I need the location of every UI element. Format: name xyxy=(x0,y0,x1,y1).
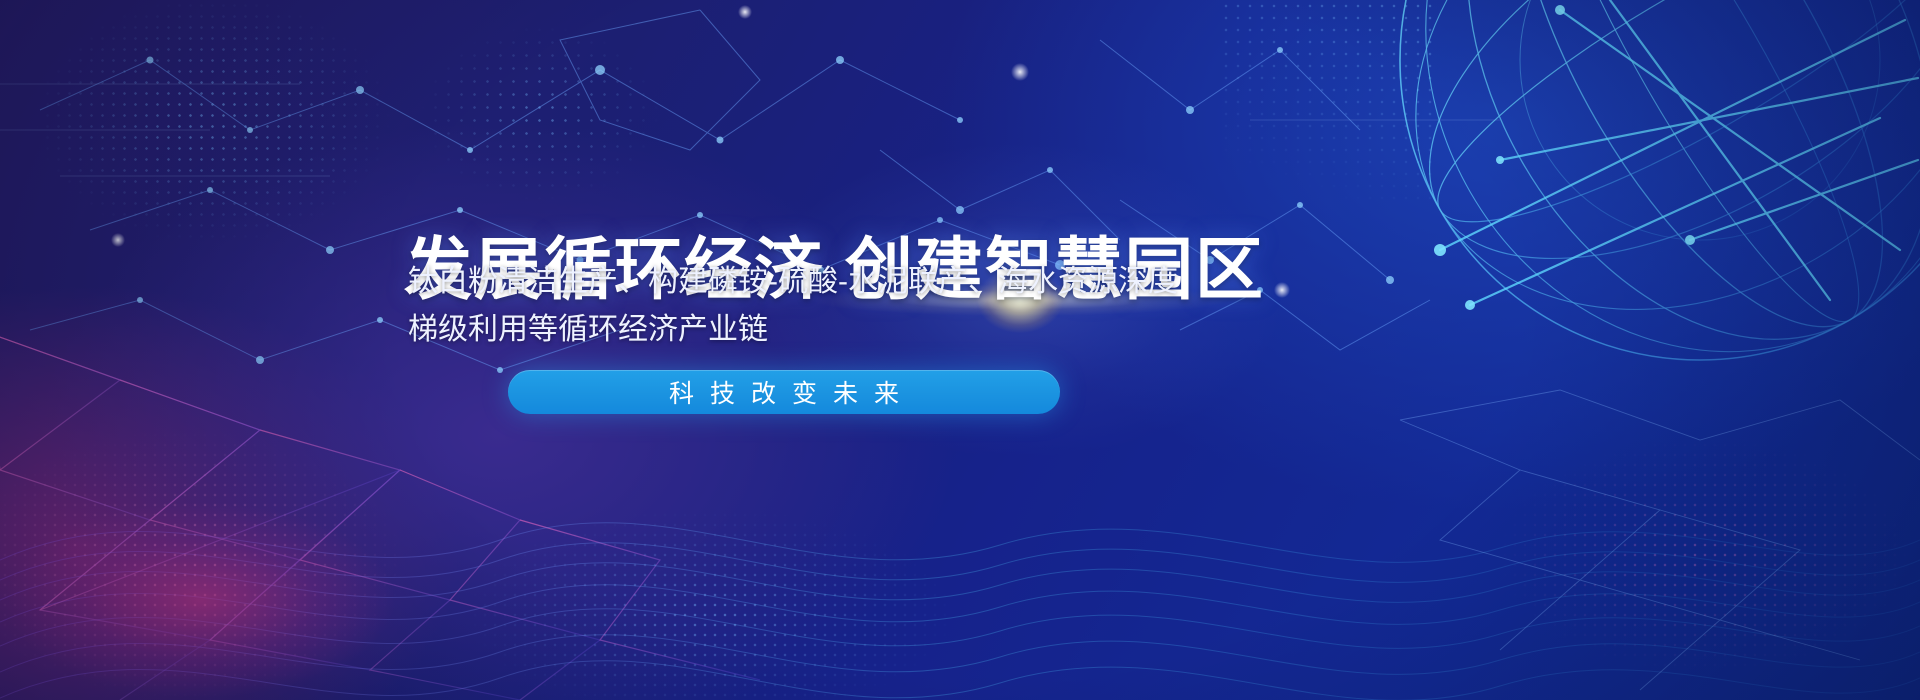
banner-subtitle: 钛白粉清洁生产、构建磷铵-硫酸-水泥联产、海水资源深度 梯级利用等循环经济产业链 xyxy=(408,258,1188,354)
hero-banner: 发展循环经济 创建智慧园区 钛白粉清洁生产、构建磷铵-硫酸-水泥联产、海水资源深… xyxy=(0,0,1920,700)
banner-subtitle-line-2: 梯级利用等循环经济产业链 xyxy=(408,306,1188,354)
cta-button[interactable]: 科技改变未来 xyxy=(508,370,1060,414)
banner-subtitle-line-1: 钛白粉清洁生产、构建磷铵-硫酸-水泥联产、海水资源深度 xyxy=(408,258,1188,306)
banner-content: 发展循环经济 创建智慧园区 钛白粉清洁生产、构建磷铵-硫酸-水泥联产、海水资源深… xyxy=(0,0,1920,700)
